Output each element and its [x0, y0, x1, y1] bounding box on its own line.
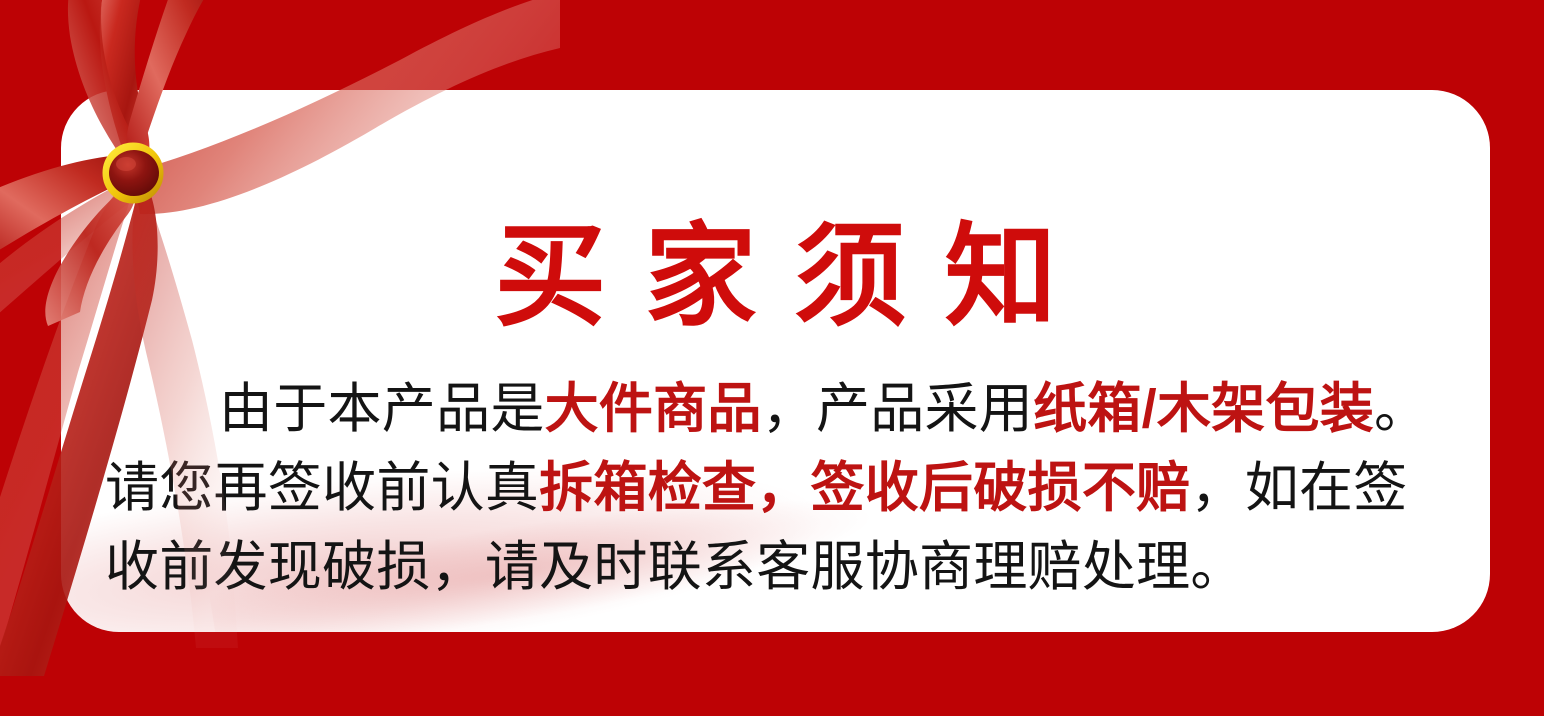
notice-body: 由于本产品是大件商品，产品采用纸箱/木架包装。 请您再签收前认真拆箱检查，签收后…	[105, 370, 1455, 607]
buyer-notice-banner: 买家须知 由于本产品是大件商品，产品采用纸箱/木架包装。 请您再签收前认真拆箱检…	[0, 0, 1544, 716]
notice-line-1-seg-4-highlight: 纸箱/木架包装	[1033, 379, 1374, 439]
notice-line-1-seg-1: 由于本产品是	[219, 379, 545, 439]
notice-line-1: 由于本产品是大件商品，产品采用纸箱/木架包装。	[105, 370, 1455, 449]
notice-line-3: 收前发现破损，请及时联系客服协商理赔处理。	[105, 528, 1455, 607]
notice-line-2-seg-1: 请您再签收前认真	[105, 458, 539, 518]
notice-line-1-seg-5: 。	[1374, 379, 1428, 439]
notice-line-2: 请您再签收前认真拆箱检查，签收后破损不赔，如在签	[105, 449, 1455, 528]
notice-line-2-seg-3: ，如在签	[1190, 458, 1407, 518]
notice-line-1-seg-2-highlight: 大件商品	[545, 379, 762, 439]
notice-line-1-seg-3: ，产品采用	[762, 379, 1033, 439]
page-title: 买家须知	[61, 214, 1490, 340]
notice-card-content: 买家须知 由于本产品是大件商品，产品采用纸箱/木架包装。 请您再签收前认真拆箱检…	[61, 90, 1490, 632]
notice-card: 买家须知 由于本产品是大件商品，产品采用纸箱/木架包装。 请您再签收前认真拆箱检…	[61, 90, 1490, 632]
notice-line-3-seg-1: 收前发现破损，请及时联系客服协商理赔处理。	[105, 537, 1245, 597]
notice-line-2-seg-2-highlight: 拆箱检查，签收后破损不赔	[539, 458, 1190, 518]
